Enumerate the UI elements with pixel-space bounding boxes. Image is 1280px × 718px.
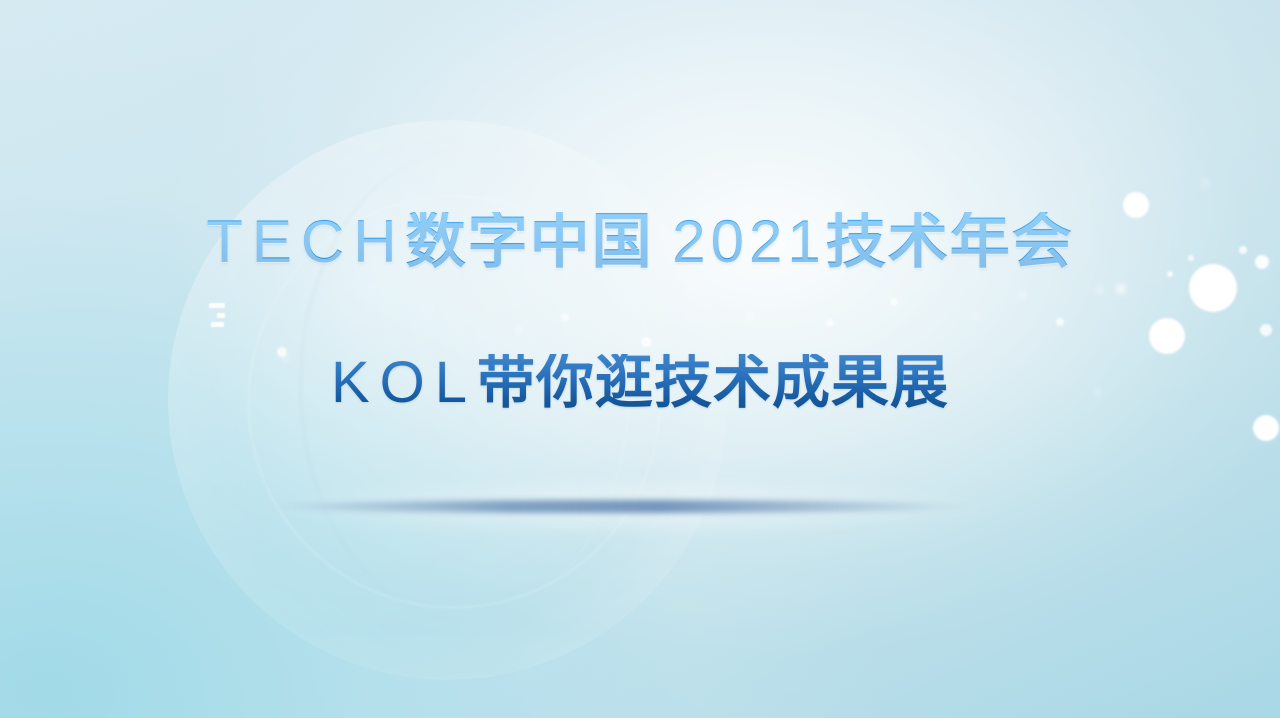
event-title-brand: 数字中国	[406, 208, 654, 275]
title-block: TECH数字中国 2021技术年会 KOL带你逛技术成果展	[0, 0, 1280, 718]
video-title-card: TECH数字中国 2021技术年会 KOL带你逛技术成果展	[0, 0, 1280, 718]
event-title: TECH数字中国 2021技术年会	[206, 212, 1074, 272]
event-title-year: 2021	[672, 208, 825, 275]
event-title-space	[654, 208, 673, 275]
event-subtitle-latin: KOL	[331, 350, 477, 415]
event-title-suffix: 技术年会	[826, 208, 1074, 275]
event-title-latin: TECH	[206, 208, 405, 275]
event-subtitle-rest: 带你逛技术成果展	[477, 350, 949, 415]
event-subtitle: KOL带你逛技术成果展	[331, 354, 949, 412]
